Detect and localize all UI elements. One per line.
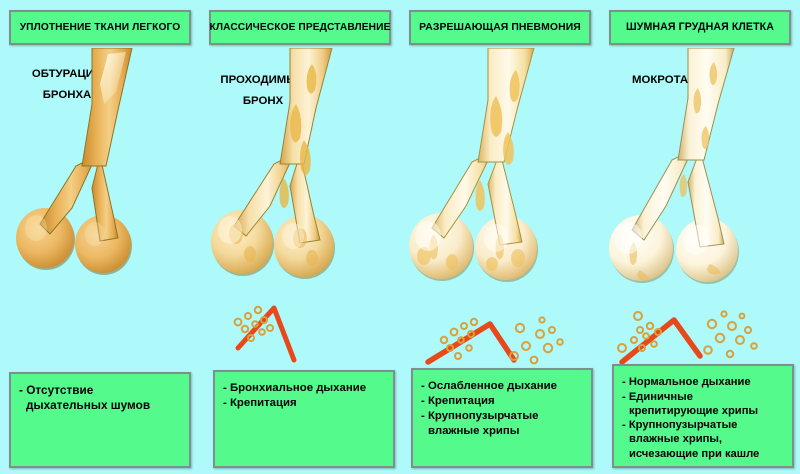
- bronchus-illustration-noisy: [600, 48, 800, 308]
- panel-header-text: УПЛОТНЕНИЕ ТКАНИ ЛЕГКОГО: [20, 22, 181, 33]
- findings-box: - Нормальное дыхание - Единичные крепити…: [612, 364, 794, 468]
- diagram-stage: УПЛОТНЕНИЕ ТКАНИ ЛЕГКОГО ОБТУРАЦИЯ БРОНХ…: [0, 0, 800, 474]
- finding-item: - Бронхиальное дыхание: [223, 381, 385, 396]
- breath-peak-icon: [238, 308, 294, 360]
- findings-box: - Отсутствие дыхательных шумов: [9, 372, 191, 468]
- panel-header-text: РАЗРЕШАЮЩАЯ ПНЕВМОНИЯ: [419, 22, 581, 33]
- panel-classic: КЛАССИЧЕСКОЕ ПРЕДСТАВЛЕНИЕ ПРОХОДИМЫЙ БР…: [200, 0, 400, 474]
- bronchus-illustration-classic: [200, 48, 400, 308]
- breath-peak-icon: [428, 324, 514, 362]
- finding-item: - Нормальное дыхание: [622, 375, 784, 389]
- finding-item: - Крупнопузырчатые влажные хрипы, исчеза…: [622, 418, 784, 460]
- panel-header-box: УПЛОТНЕНИЕ ТКАНИ ЛЕГКОГО: [9, 10, 191, 45]
- panel-header-text: ШУМНАЯ ГРУДНАЯ КЛЕТКА: [626, 22, 774, 34]
- findings-box: - Ослабленное дыхание - Крепитация - Кру…: [411, 368, 593, 468]
- sound-symbol-crepitation: [218, 298, 378, 368]
- bubble-cluster-right: [704, 311, 757, 357]
- panel-header-box: КЛАССИЧЕСКОЕ ПРЕДСТАВЛЕНИЕ: [209, 10, 391, 45]
- finding-item: - Ослабленное дыхание: [421, 379, 583, 394]
- panel-header-text: КЛАССИЧЕСКОЕ ПРЕДСТАВЛЕНИЕ: [210, 22, 391, 33]
- finding-item: - Единичные крепитирующие хрипы: [622, 390, 784, 418]
- panel-noisy-chest: ШУМНАЯ ГРУДНАЯ КЛЕТКА МОКРОТА: [600, 0, 800, 474]
- bubble-cluster-right: [510, 317, 563, 363]
- panel-resolving: РАЗРЕШАЮЩАЯ ПНЕВМОНИЯ: [400, 0, 600, 474]
- breath-peak-icon: [622, 320, 700, 362]
- panel-header-box: РАЗРЕШАЮЩАЯ ПНЕВМОНИЯ: [409, 10, 591, 45]
- bubble-cluster-left: [618, 312, 661, 352]
- finding-item: - Крепитация: [223, 396, 385, 411]
- sound-symbol-coarse-rales: [414, 304, 574, 374]
- findings-box: - Бронхиальное дыхание - Крепитация: [213, 370, 395, 468]
- bronchus-illustration-consolidation: [0, 48, 200, 308]
- bronchus-illustration-resolving: [400, 48, 600, 308]
- sound-symbol-noisy-chest: [608, 302, 768, 372]
- finding-item: - Крупнопузырчатые влажные хрипы: [421, 409, 583, 438]
- finding-item: - Крепитация: [421, 394, 583, 409]
- finding-item: - Отсутствие дыхательных шумов: [19, 383, 181, 414]
- panel-consolidation: УПЛОТНЕНИЕ ТКАНИ ЛЕГКОГО ОБТУРАЦИЯ БРОНХ…: [0, 0, 200, 474]
- panel-header-box: ШУМНАЯ ГРУДНАЯ КЛЕТКА: [609, 10, 791, 45]
